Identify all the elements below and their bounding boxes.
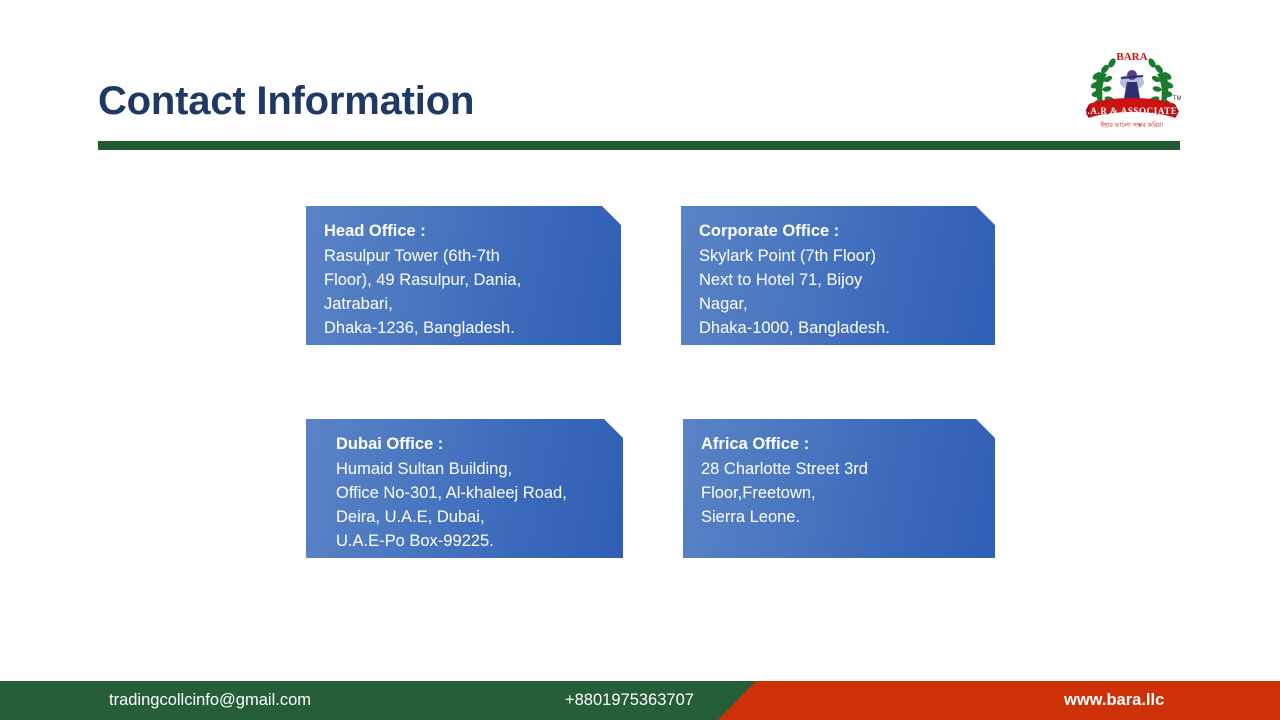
office-card-head-line-4: Dhaka-1236, Bangladesh. [324,317,603,341]
office-card-head[interactable]: Head Office : Rasulpur Tower (6th-7th Fl… [306,206,621,345]
office-card-head-line-2: Floor), 49 Rasulpur, Dania, [324,269,603,293]
office-card-dubai-line-4: U.A.E-Po Box-99225. [336,530,605,554]
bara-logo: BARA B.A.R & ASSOCIATES TM ইহার ভালো সম্… [1083,42,1181,134]
logo-graphic: BARA B.A.R & ASSOCIATES TM ইহার ভালো সম্… [1083,42,1181,134]
office-card-africa-title: Africa Office : [701,433,977,457]
title-underline-rule [98,141,1180,150]
office-card-africa-line-1: 28 Charlotte Street 3rd [701,458,977,482]
office-card-corporate-line-4: Dhaka-1000, Bangladesh. [699,317,977,341]
office-card-head-title: Head Office : [324,220,603,244]
office-card-africa[interactable]: Africa Office : 28 Charlotte Street 3rd … [683,419,995,558]
footer-phone[interactable]: +8801975363707 [565,681,694,720]
office-card-corporate[interactable]: Corporate Office : Skylark Point (7th Fl… [681,206,995,345]
office-card-dubai-line-2: Office No-301, Al-khaleej Road, [336,482,605,506]
office-card-corporate-line-3: Nagar, [699,293,977,317]
office-card-dubai-title: Dubai Office : [336,433,605,457]
page-title: Contact Information [98,78,474,124]
footer-orange-band [716,681,1280,720]
footer-website[interactable]: www.bara.llc [1064,681,1164,720]
footer-email[interactable]: tradingcollcinfo@gmail.com [109,681,311,720]
office-card-africa-line-3: Sierra Leone. [701,506,977,530]
slide-canvas: Contact Information [0,0,1280,720]
slide-footer: tradingcollcinfo@gmail.com +880197536370… [0,681,1280,720]
logo-motto: ইহার ভালো সম্ভব করিয়া [1100,121,1165,129]
office-card-dubai[interactable]: Dubai Office : Humaid Sultan Building, O… [306,419,623,558]
office-card-head-line-1: Rasulpur Tower (6th-7th [324,245,603,269]
office-card-corporate-line-1: Skylark Point (7th Floor) [699,245,977,269]
office-card-dubai-line-3: Deira, U.A.E, Dubai, [336,506,605,530]
office-card-dubai-line-1: Humaid Sultan Building, [336,458,605,482]
logo-banner-text: B.A.R & ASSOCIATES [1083,106,1181,116]
logo-brand-top: BARA [1116,51,1147,63]
office-card-head-line-3: Jatrabari, [324,293,603,317]
office-card-africa-line-2: Floor,Freetown, [701,482,977,506]
office-card-corporate-line-2: Next to Hotel 71, Bijoy [699,269,977,293]
logo-trademark: TM [1173,96,1181,102]
office-card-corporate-title: Corporate Office : [699,220,977,244]
